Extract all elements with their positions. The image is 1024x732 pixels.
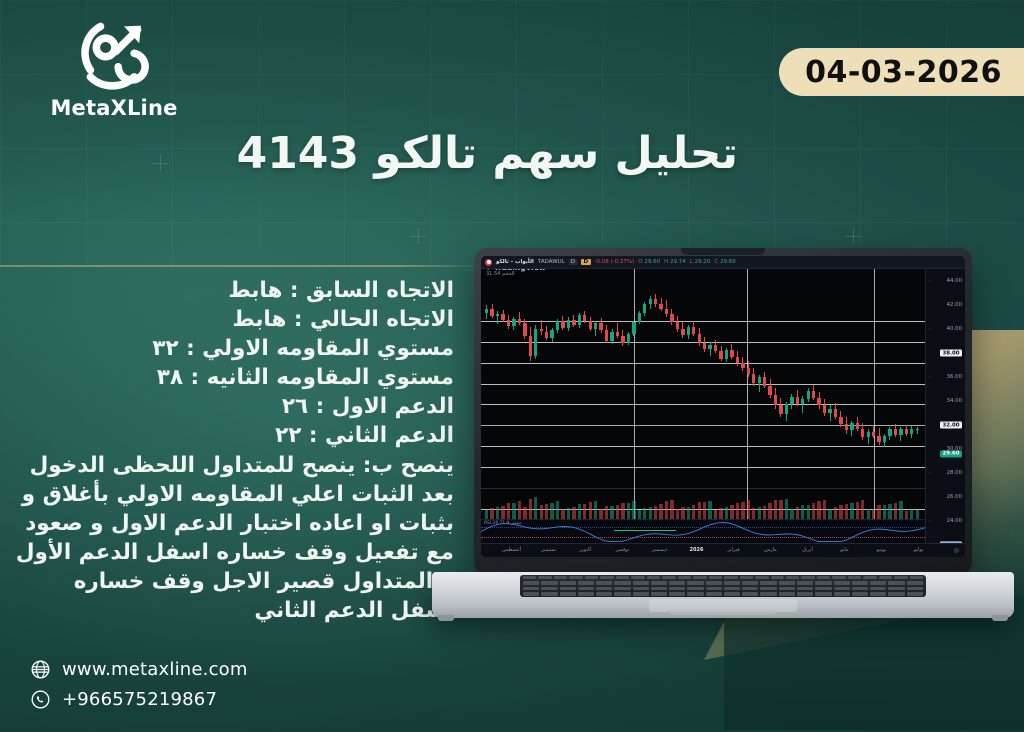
analysis-line-resistance-2: مستوي المقاومه الثانيه : ٣٨: [14, 363, 454, 392]
keyboard-key: [863, 576, 876, 579]
keyboard-key: [815, 581, 831, 584]
candle-body: [872, 432, 875, 436]
volume-bar: [905, 511, 908, 519]
candle-body: [730, 350, 733, 356]
brand-logo-block: MetaXLine: [34, 18, 194, 120]
candle-body: [812, 391, 815, 398]
volume-bar: [496, 507, 499, 519]
candle-body: [839, 417, 842, 424]
volume-bar: [589, 502, 592, 519]
volume-bar: [523, 507, 526, 520]
candle-body: [883, 436, 886, 442]
candle-body: [540, 329, 543, 331]
volume-bar: [714, 510, 717, 520]
keyboard-key: [706, 592, 722, 595]
price-gridline-faint: [481, 488, 925, 489]
candle-body: [670, 314, 673, 322]
candle-body: [916, 429, 919, 430]
keyboard-key: [523, 592, 539, 595]
keyboard-key: [554, 576, 567, 579]
keyboard-key: [910, 576, 923, 579]
volume-bar: [687, 507, 690, 519]
price-tick-marker: ‹: [929, 374, 931, 380]
volume-bar: [796, 507, 799, 519]
footer-whatsapp-row[interactable]: +966575219867: [30, 689, 248, 710]
keyboard-key: [614, 581, 630, 584]
candle-body: [572, 320, 575, 325]
time-gridline: [747, 269, 748, 519]
volume-bar: [567, 508, 570, 519]
keyboard-key: [742, 592, 758, 595]
chart-interval-chip[interactable]: D: [581, 259, 591, 265]
volume-bar: [894, 503, 897, 519]
candle-body: [807, 391, 810, 399]
volume-bar: [877, 505, 880, 519]
keyboard-key: [706, 581, 722, 584]
laptop-foot-left: [438, 615, 454, 621]
volume-bar: [888, 504, 891, 519]
volume-bar: [540, 505, 543, 519]
laptop-base-deck: [432, 572, 1014, 618]
keyboard-key: [740, 576, 753, 579]
volume-bar: [774, 500, 777, 519]
keyboard-key: [724, 576, 737, 579]
candle-body: [741, 363, 744, 368]
volume-bar: [670, 500, 673, 519]
analysis-line-current-trend: الاتجاه الحالي : هابط: [14, 305, 454, 334]
keyboard-key: [888, 587, 904, 590]
keyboard-key: [760, 587, 776, 590]
time-tick: يونيو: [877, 547, 886, 553]
keyboard-key: [560, 587, 576, 590]
price-gridline: [481, 384, 925, 385]
chart-exchange: TADAWUL: [538, 259, 565, 265]
date-badge: 04-03-2026: [779, 48, 1024, 96]
keyboard-key: [709, 576, 722, 579]
keyboard-key: [687, 587, 703, 590]
volume-bar: [599, 509, 602, 519]
footer-contacts: www.metaxline.com +966575219867: [30, 659, 248, 710]
volume-bar: [807, 505, 810, 519]
candle-body: [867, 432, 870, 437]
price-tick-marker: ‹: [929, 518, 931, 524]
volume-bar: [665, 501, 668, 519]
keyboard-key: [797, 592, 813, 595]
keyboard-key: [888, 592, 904, 595]
indicator-line-series: [481, 520, 925, 543]
keyboard-key: [797, 581, 813, 584]
volume-bar: [621, 503, 624, 519]
brand-name: MetaXLine: [34, 96, 194, 120]
globe-icon: [30, 659, 51, 680]
clock-icon[interactable]: ◎: [954, 547, 959, 554]
candle-body: [561, 321, 564, 328]
candle-body: [703, 343, 706, 349]
laptop-notch: [681, 248, 765, 255]
volume-bar: [779, 500, 782, 519]
keyboard-key: [560, 592, 576, 595]
volume-bar: [572, 507, 575, 519]
keyboard-key: [693, 576, 706, 579]
analysis-line-previous-trend: الاتجاه السابق : هابط: [14, 276, 454, 305]
chart-series-legend: الحجم 31.54: [486, 271, 515, 277]
volume-bar: [801, 505, 804, 519]
candle-wick: [541, 320, 542, 335]
keyboard-key: [832, 576, 845, 579]
volume-bar: [861, 500, 864, 519]
keyboard-key: [834, 581, 850, 584]
volume-bar: [752, 508, 755, 520]
time-gridline: [634, 269, 635, 519]
price-tick-marker: ‹: [929, 326, 931, 332]
candle-body: [490, 309, 493, 316]
volume-bar: [627, 503, 630, 520]
keyboard-key: [755, 576, 768, 579]
keyboard-key: [779, 587, 795, 590]
price-tick: 44.00: [947, 278, 962, 284]
candle-body: [899, 429, 902, 434]
analysis-text-block: الاتجاه السابق : هابط الاتجاه الحالي : ه…: [14, 276, 454, 625]
volume-bar: [867, 509, 870, 519]
keyboard-key: [870, 587, 886, 590]
laptop-lid: الأبواب - تالكو TADAWUL D D -0.08 (-0.27…: [474, 248, 972, 575]
volume-bar: [823, 500, 826, 519]
candle-body: [708, 345, 711, 349]
volume-bar: [561, 509, 564, 519]
time-tick: يوليو: [914, 547, 924, 553]
volume-bar: [883, 505, 886, 519]
candle-body: [747, 368, 750, 374]
volume-bar: [899, 501, 902, 519]
poster-canvas: MetaXLine 04-03-2026 تحليل سهم تالكو 414…: [0, 0, 1024, 732]
candle-body: [861, 429, 864, 436]
candle-body: [485, 309, 488, 313]
laptop-keyboard: [520, 575, 926, 597]
volume-bar: [507, 503, 510, 519]
volume-bar: [638, 510, 641, 520]
chart-plot-area[interactable]: [481, 269, 925, 519]
website-url: www.metaxline.com: [62, 659, 248, 680]
keyboard-key: [706, 587, 722, 590]
keyboard-key: [633, 587, 649, 590]
candle-body: [681, 329, 684, 334]
price-tick-highlighted: 38.00: [940, 350, 962, 357]
keyboard-key: [742, 581, 758, 584]
candle-body: [687, 327, 690, 334]
candle-body: [594, 323, 597, 329]
candle-body: [725, 350, 728, 358]
candle-body: [801, 399, 804, 404]
volume-bar: [485, 510, 488, 520]
candle-body: [529, 336, 532, 357]
price-tick: 40.00: [947, 326, 962, 332]
volume-bar: [692, 505, 695, 519]
candle-body: [659, 304, 662, 308]
volume-bar: [556, 501, 559, 519]
price-tick-highlighted: 32.00: [940, 422, 962, 429]
keyboard-key: [687, 592, 703, 595]
volume-bar: [659, 504, 662, 519]
candle-body: [796, 397, 799, 404]
keyboard-key: [801, 576, 814, 579]
candle-body: [894, 429, 897, 434]
volume-bar: [839, 505, 842, 519]
candle-body: [817, 398, 820, 405]
keyboard-key: [907, 592, 923, 595]
keyboard-key: [879, 576, 892, 579]
price-gridline: [481, 321, 925, 322]
candle-body: [567, 320, 570, 328]
volume-bar: [834, 507, 837, 519]
candle-body: [627, 334, 630, 343]
volume-bar: [518, 501, 521, 519]
candle-body: [768, 386, 771, 395]
analysis-line-support-1: الدعم الاول : ٢٦: [14, 392, 454, 421]
candle-body: [850, 423, 853, 430]
time-tick: أبريل: [802, 547, 813, 553]
page-title: تحليل سهم تالكو 4143: [237, 128, 738, 179]
price-tick: 28.00: [947, 470, 962, 476]
keyboard-key: [633, 581, 649, 584]
keyboard-key: [651, 587, 667, 590]
candle-body: [610, 332, 613, 341]
keyboard-key: [779, 581, 795, 584]
time-tick: ديسمبر: [652, 547, 667, 553]
indicator-pane[interactable]: RSI مؤشر 9 28.71: [481, 519, 925, 543]
keyboard-key: [600, 576, 613, 579]
keyboard-key: [817, 576, 830, 579]
analysis-line-support-2: الدعم الثاني : ٢٢: [14, 421, 454, 450]
volume-bar: [910, 509, 913, 519]
volume-bar: [632, 501, 635, 519]
candle-body: [599, 323, 602, 330]
keyboard-key: [523, 587, 539, 590]
keyboard-key: [585, 576, 598, 579]
candle-body: [550, 330, 553, 337]
keyboard-key: [779, 592, 795, 595]
volume-bar: [817, 501, 820, 519]
candle-body: [845, 424, 848, 430]
keyboard-key: [647, 576, 660, 579]
keyboard-key: [678, 576, 691, 579]
volume-bar: [703, 502, 706, 520]
candle-body: [834, 409, 837, 417]
candle-body: [779, 405, 782, 413]
volume-bar: [490, 508, 493, 519]
candle-body: [910, 429, 913, 433]
keyboard-key: [614, 587, 630, 590]
keyboard-key: [870, 592, 886, 595]
keyboard-key: [560, 581, 576, 584]
candle-body: [649, 299, 652, 304]
price-gridline: [481, 467, 925, 468]
price-gridline: [481, 404, 925, 405]
price-tick: 24.00: [947, 518, 962, 524]
keyboard-key: [834, 587, 850, 590]
analysis-recommendation: ينصح ب: ينصح للمتداول اللحظى الدخول بعد …: [14, 451, 454, 625]
candle-body: [616, 332, 619, 336]
time-tick: نوفمبر: [616, 547, 630, 553]
keyboard-key: [523, 576, 536, 579]
candle-wick: [497, 311, 498, 325]
keyboard-key: [894, 576, 907, 579]
keyboard-key: [523, 581, 539, 584]
candle-body: [583, 315, 586, 321]
volume-bar: [529, 499, 532, 519]
keyboard-key: [596, 581, 612, 584]
keyboard-key: [771, 576, 784, 579]
footer-website-row[interactable]: www.metaxline.com: [30, 659, 248, 680]
chart-ohlc-open: O 29.60: [638, 259, 660, 265]
chart-ohlc-high: H 29.74: [664, 259, 686, 265]
current-price-badge: 29.60: [940, 450, 962, 457]
candle-body: [698, 334, 701, 343]
keyboard-key: [596, 587, 612, 590]
chart-ohlc-low: L 29.20: [690, 259, 711, 265]
keyboard-key: [569, 576, 582, 579]
candle-body: [589, 321, 592, 329]
candle-body: [790, 397, 793, 404]
keyboard-key: [724, 587, 740, 590]
indicator-legend: RSI مؤشر 9 28.71: [484, 521, 521, 526]
keyboard-key: [578, 592, 594, 595]
keyboard-key: [907, 581, 923, 584]
candle-body: [643, 304, 646, 312]
analysis-line-resistance-1: مستوي المقاومه الاولي : ٣٢: [14, 334, 454, 363]
time-tick: سبتمبر: [541, 547, 555, 553]
laptop-mockup: الأبواب - تالكو TADAWUL D D -0.08 (-0.27…: [432, 248, 1014, 648]
keyboard-key: [815, 592, 831, 595]
time-tick: أغسطس: [502, 547, 521, 553]
volume-bar: [845, 504, 848, 519]
price-axis[interactable]: 44.00‹42.0040.00‹38.0036.00‹34.0032.0030…: [925, 269, 965, 557]
candle-body: [888, 429, 891, 435]
keyboard-key: [631, 576, 644, 579]
tradingview-screen[interactable]: الأبواب - تالكو TADAWUL D D -0.08 (-0.27…: [481, 256, 965, 557]
keyboard-key: [852, 592, 868, 595]
price-gridline: [481, 446, 925, 447]
candle-body: [692, 327, 695, 333]
volume-bar: [719, 508, 722, 519]
candle-body: [621, 336, 624, 343]
keyboard-key: [724, 592, 740, 595]
chart-symbol-name[interactable]: الأبواب - تالكو: [496, 259, 534, 265]
time-tick: 2026: [690, 547, 704, 553]
volume-bar: [545, 504, 548, 519]
volume-bar: [872, 509, 875, 519]
keyboard-key: [651, 592, 667, 595]
keyboard-key: [669, 581, 685, 584]
volume-bar: [643, 508, 646, 519]
candle-body: [758, 377, 761, 382]
volume-bar: [654, 506, 657, 519]
price-tick: 36.00: [947, 374, 962, 380]
keyboard-key: [662, 576, 675, 579]
keyboard-key: [815, 587, 831, 590]
candle-body: [507, 320, 510, 326]
price-gridline: [481, 363, 925, 364]
time-tick: مارس: [764, 547, 777, 553]
volume-bar: [850, 503, 853, 519]
volume-bar: [725, 507, 728, 519]
time-tick: فبراير: [727, 547, 739, 553]
time-tick: أكتوبر: [579, 547, 591, 553]
volume-bar: [616, 505, 619, 519]
keyboard-key: [852, 581, 868, 584]
indicator-highlight-segment: [614, 530, 676, 532]
time-gridline: [874, 269, 875, 519]
keyboard-key: [742, 587, 758, 590]
candle-body: [578, 315, 581, 325]
candle-body: [518, 319, 521, 323]
candle-body: [905, 429, 908, 433]
candle-body: [823, 405, 826, 412]
keyboard-key: [797, 587, 813, 590]
candle-body: [654, 299, 657, 304]
candle-body: [785, 404, 788, 413]
keyboard-key: [834, 592, 850, 595]
keyboard-key: [760, 592, 776, 595]
candle-body: [523, 323, 526, 336]
tan-divider-line: [0, 265, 486, 267]
keyboard-key: [616, 576, 629, 579]
volume-bar: [698, 502, 701, 519]
tradingview-toolbar[interactable]: الأبواب - تالكو TADAWUL D D -0.08 (-0.27…: [481, 256, 965, 269]
time-tick: مايو: [840, 547, 848, 553]
price-tick: 34.00: [947, 398, 962, 404]
volume-bar: [649, 507, 652, 519]
keyboard-key: [578, 587, 594, 590]
keyboard-key: [633, 592, 649, 595]
volume-bar: [856, 502, 859, 519]
volume-bar: [747, 500, 750, 519]
keyboard-key: [848, 576, 861, 579]
volume-bar: [708, 501, 711, 519]
chart-interval[interactable]: D: [569, 259, 577, 265]
candle-body: [719, 351, 722, 358]
volume-bar: [676, 509, 679, 520]
time-axis[interactable]: ◎ أغسطسسبتمبرأكتوبرنوفمبرديسمبر2026فبراي…: [481, 543, 965, 557]
keyboard-key: [541, 592, 557, 595]
price-tick: 42.00: [947, 302, 962, 308]
tradingview-logo-icon: [485, 259, 492, 266]
volume-bar: [768, 503, 771, 519]
candle-body: [877, 436, 880, 442]
keyboard-key: [669, 592, 685, 595]
candle-body: [752, 374, 755, 382]
volume-bar: [605, 506, 608, 519]
candle-body: [665, 309, 668, 314]
keyboard-key: [760, 581, 776, 584]
laptop-foot-right: [992, 615, 1008, 621]
volume-bar: [583, 504, 586, 519]
phone-number: +966575219867: [62, 689, 217, 710]
candle-body: [534, 329, 537, 356]
keyboard-key: [651, 581, 667, 584]
candle-body: [501, 314, 504, 320]
volume-bar: [758, 507, 761, 519]
volume-bar: [730, 505, 733, 519]
volume-bar: [763, 506, 766, 519]
volume-bar: [736, 503, 739, 519]
candle-wick: [917, 427, 918, 433]
candle-body: [496, 314, 499, 316]
volume-bar: [501, 506, 504, 519]
volume-bar: [534, 497, 537, 519]
candle-body: [545, 332, 548, 338]
keyboard-key: [541, 581, 557, 584]
keyboard-key: [888, 581, 904, 584]
